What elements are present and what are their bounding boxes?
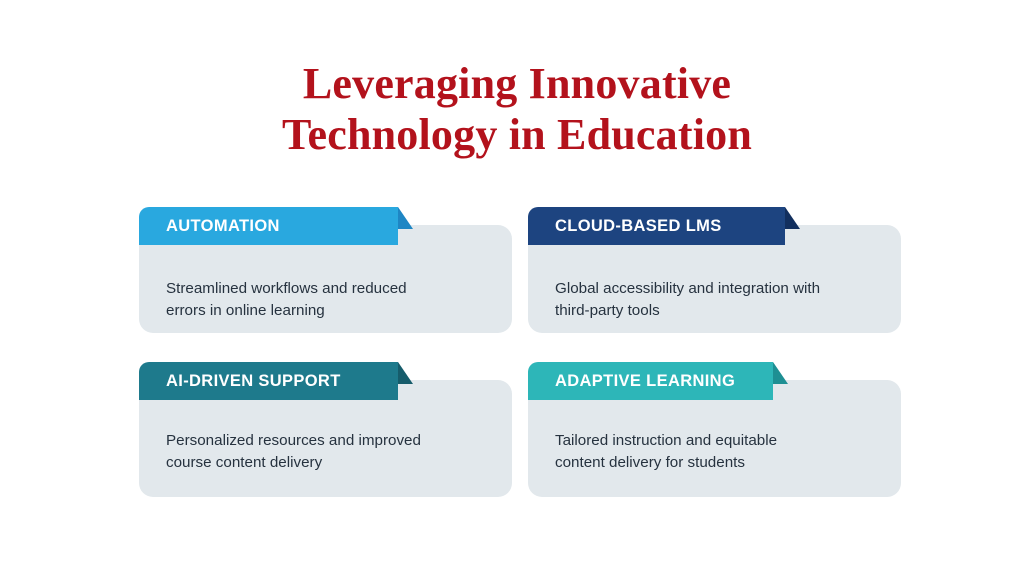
card-heading-label: CLOUD-BASED LMS xyxy=(555,207,722,245)
ribbon-fold-triangle-icon xyxy=(398,362,413,384)
card-header-ribbon: AI-DRIVEN SUPPORT xyxy=(139,362,398,400)
feature-card-automation[interactable]: Streamlined workflows and reduced errors… xyxy=(139,207,512,333)
card-header-ribbon: CLOUD-BASED LMS xyxy=(528,207,785,245)
card-description: Tailored instruction and equitable conte… xyxy=(555,430,877,474)
card-heading-label: ADAPTIVE LEARNING xyxy=(555,362,735,400)
card-heading-label: AI-DRIVEN SUPPORT xyxy=(166,362,341,400)
card-header-ribbon: AUTOMATION xyxy=(139,207,398,245)
feature-card-grid: Streamlined workflows and reduced errors… xyxy=(0,0,1034,576)
feature-card-adaptive-learning[interactable]: Tailored instruction and equitable conte… xyxy=(528,362,901,497)
ribbon-fold-triangle-icon xyxy=(398,207,413,229)
ribbon-fold-triangle-icon xyxy=(773,362,788,384)
feature-card-ai-driven-support[interactable]: Personalized resources and improved cour… xyxy=(139,362,512,497)
card-description: Global accessibility and integration wit… xyxy=(555,278,877,322)
slide-canvas: Leveraging Innovative Technology in Educ… xyxy=(0,0,1034,576)
feature-card-cloud-based-lms[interactable]: Global accessibility and integration wit… xyxy=(528,207,901,333)
ribbon-fold-triangle-icon xyxy=(785,207,800,229)
card-description: Streamlined workflows and reduced errors… xyxy=(166,278,488,322)
card-header-ribbon: ADAPTIVE LEARNING xyxy=(528,362,773,400)
card-heading-label: AUTOMATION xyxy=(166,207,280,245)
card-description: Personalized resources and improved cour… xyxy=(166,430,488,474)
